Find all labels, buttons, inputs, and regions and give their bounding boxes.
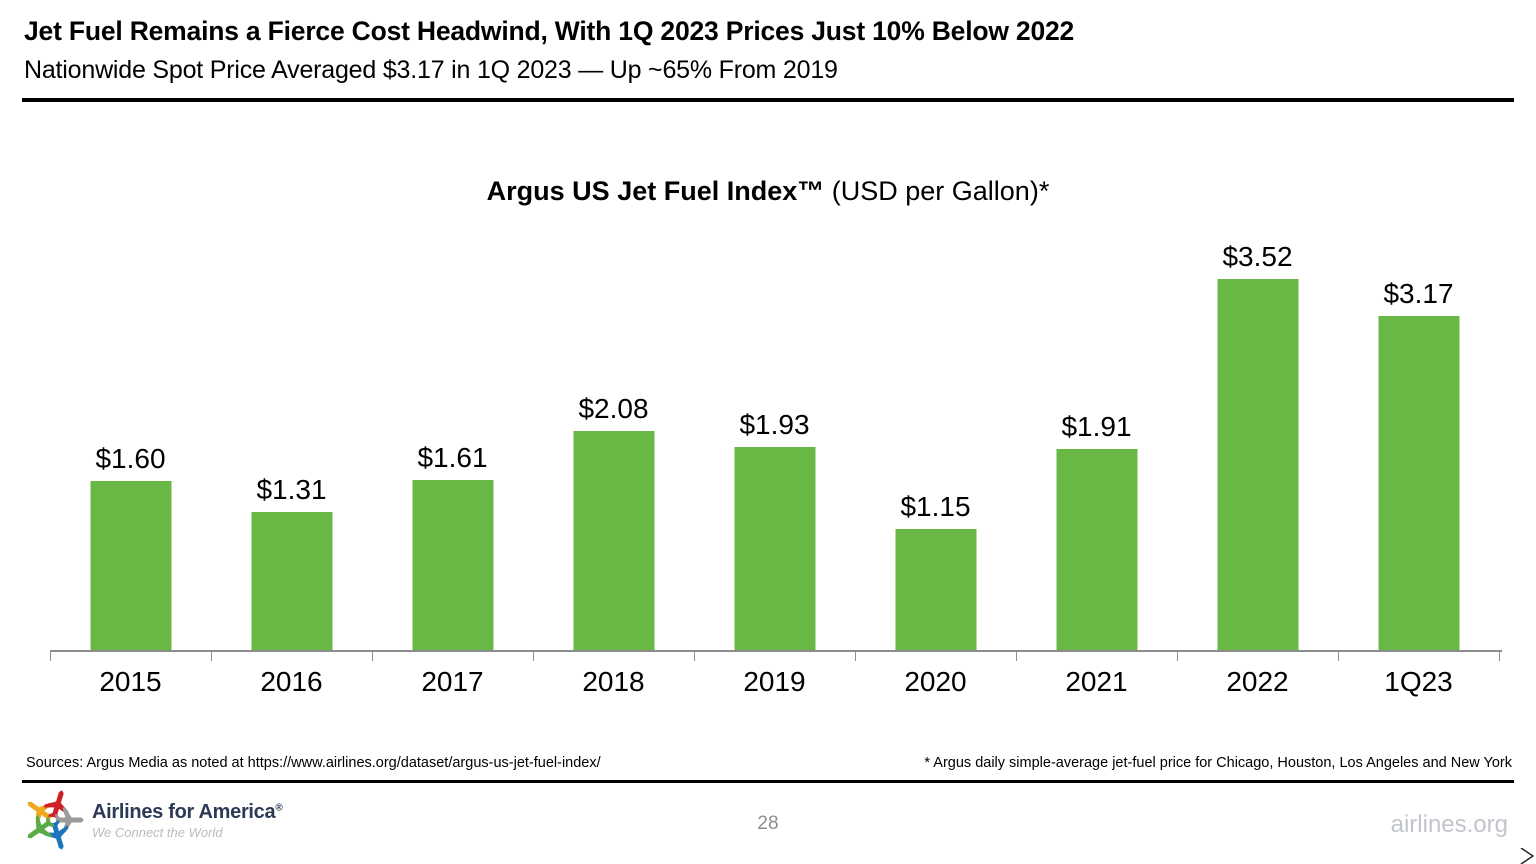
bar-value-label-2022: $3.52: [1222, 241, 1292, 273]
site-url: airlines.org: [1391, 811, 1508, 839]
bar-2020[interactable]: [895, 529, 976, 650]
chart-container: Argus US Jet Fuel Index™ (USD per Gallon…: [0, 104, 1536, 744]
bar-value-label-2018: $2.08: [578, 393, 648, 425]
x-axis-label-2015: 2015: [50, 666, 211, 698]
bar-value-label-2016: $1.31: [256, 474, 326, 506]
x-axis-tick: [1338, 650, 1339, 661]
bar-slot: $1.61: [372, 224, 533, 650]
bar-plot: $1.60$1.31$1.61$2.08$1.93$1.15$1.91$3.52…: [50, 224, 1502, 650]
bar-2016[interactable]: [251, 512, 332, 650]
x-axis-tick: [855, 650, 856, 661]
header-divider: [22, 98, 1514, 102]
x-axis-tick: [211, 650, 212, 661]
x-axis-line: [50, 650, 1502, 652]
bar-2017[interactable]: [412, 480, 493, 650]
bar-value-label-2021: $1.91: [1061, 411, 1131, 443]
x-axis-label-1Q23: 1Q23: [1338, 666, 1499, 698]
bar-slot: $1.93: [694, 224, 855, 650]
x-axis-label-2018: 2018: [533, 666, 694, 698]
bar-2019[interactable]: [734, 447, 815, 651]
x-axis-tick: [1499, 650, 1500, 661]
bar-slot: $1.91: [1016, 224, 1177, 650]
bar-slot: $1.60: [50, 224, 211, 650]
bar-2021[interactable]: [1056, 449, 1137, 650]
bar-2018[interactable]: [573, 431, 654, 650]
slide-header: Jet Fuel Remains a Fierce Cost Headwind,…: [0, 0, 1536, 104]
bar-value-label-2017: $1.61: [417, 442, 487, 474]
slide-footer: Airlines for America® We Connect the Wor…: [0, 783, 1536, 864]
bar-2022[interactable]: [1217, 279, 1298, 650]
x-axis-label-2017: 2017: [372, 666, 533, 698]
x-axis-label-2020: 2020: [855, 666, 1016, 698]
page-title: Jet Fuel Remains a Fierce Cost Headwind,…: [24, 16, 1074, 47]
corner-mark-icon: [1520, 848, 1534, 864]
bar-slot: $3.52: [1177, 224, 1338, 650]
bar-value-label-1Q23: $3.17: [1383, 278, 1453, 310]
bar-slot: $1.31: [211, 224, 372, 650]
bar-slot: $2.08: [533, 224, 694, 650]
source-note: Sources: Argus Media as noted at https:/…: [26, 755, 601, 771]
chart-title: Argus US Jet Fuel Index™ (USD per Gallon…: [0, 176, 1536, 207]
x-axis-label-2021: 2021: [1016, 666, 1177, 698]
registered-mark: ®: [275, 802, 282, 813]
page-number: 28: [0, 813, 1536, 835]
footnote-asterisk: * Argus daily simple-average jet-fuel pr…: [924, 755, 1512, 771]
bar-slot: $1.15: [855, 224, 1016, 650]
chart-title-bold: Argus US Jet Fuel Index™: [487, 176, 825, 206]
x-axis-label-2019: 2019: [694, 666, 855, 698]
x-axis-tick: [694, 650, 695, 661]
x-axis-label-2022: 2022: [1177, 666, 1338, 698]
x-axis-tick: [50, 650, 51, 661]
x-axis-tick: [1016, 650, 1017, 661]
bar-value-label-2015: $1.60: [95, 443, 165, 475]
bar-1Q23[interactable]: [1378, 316, 1459, 650]
chart-title-regular: (USD per Gallon)*: [824, 176, 1049, 206]
x-axis-label-2016: 2016: [211, 666, 372, 698]
page-subtitle: Nationwide Spot Price Averaged $3.17 in …: [24, 56, 838, 85]
bar-value-label-2019: $1.93: [739, 409, 809, 441]
bar-2015[interactable]: [90, 481, 171, 650]
bar-slot: $3.17: [1338, 224, 1499, 650]
x-axis-tick: [533, 650, 534, 661]
x-axis-tick: [372, 650, 373, 661]
bar-value-label-2020: $1.15: [900, 491, 970, 523]
x-axis-tick: [1177, 650, 1178, 661]
